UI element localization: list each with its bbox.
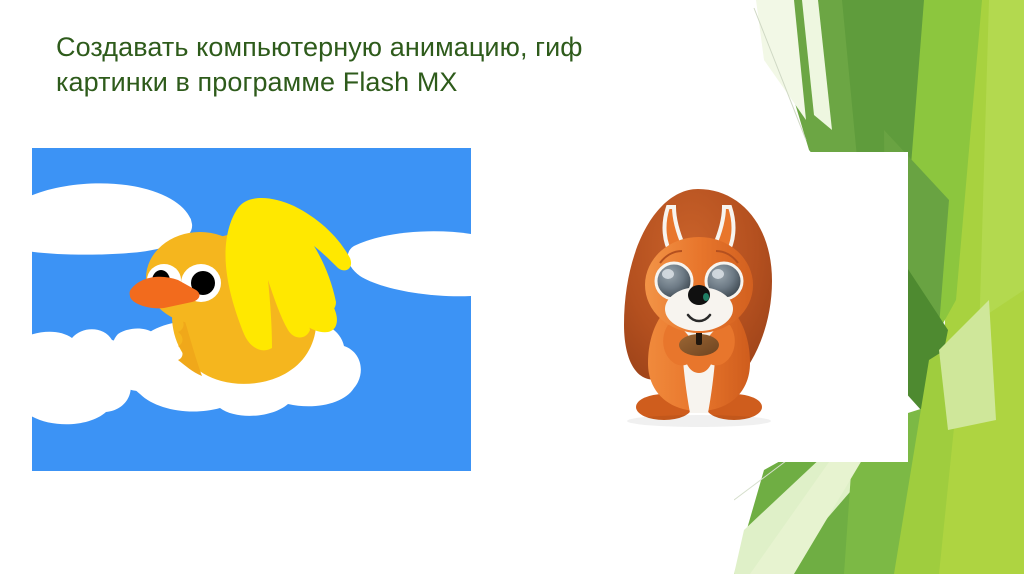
duck-illustration xyxy=(32,148,471,471)
facet-shape-right-light xyxy=(972,0,1024,574)
page-title: Создавать компьютерную анимацию, гиф кар… xyxy=(56,30,716,100)
squirrel-nose-glint xyxy=(703,293,709,301)
title-line-1: Создавать компьютерную анимацию, гиф xyxy=(56,30,716,65)
squirrel-illustration xyxy=(612,185,786,435)
facet-shape-lower-right-bright xyxy=(939,290,1024,574)
squirrel-eye-left-highlight xyxy=(662,269,674,279)
facet-shape-lower-right xyxy=(894,300,1024,574)
facet-shape-lower-left-pale xyxy=(734,455,869,574)
title-line-2: картинки в программе Flash MX xyxy=(56,65,716,100)
squirrel-eye-right-highlight xyxy=(712,269,724,279)
presentation-slide: Создавать компьютерную анимацию, гиф кар… xyxy=(0,0,1024,574)
facet-shape-far-right xyxy=(934,0,1024,574)
facet-shape-sliver-top xyxy=(756,0,806,120)
facet-shape-sliver-mid xyxy=(802,0,832,130)
facet-hairline-1 xyxy=(754,8,806,140)
squirrel-shadow xyxy=(627,415,771,427)
facet-shape-lower-right-pale xyxy=(939,300,996,430)
